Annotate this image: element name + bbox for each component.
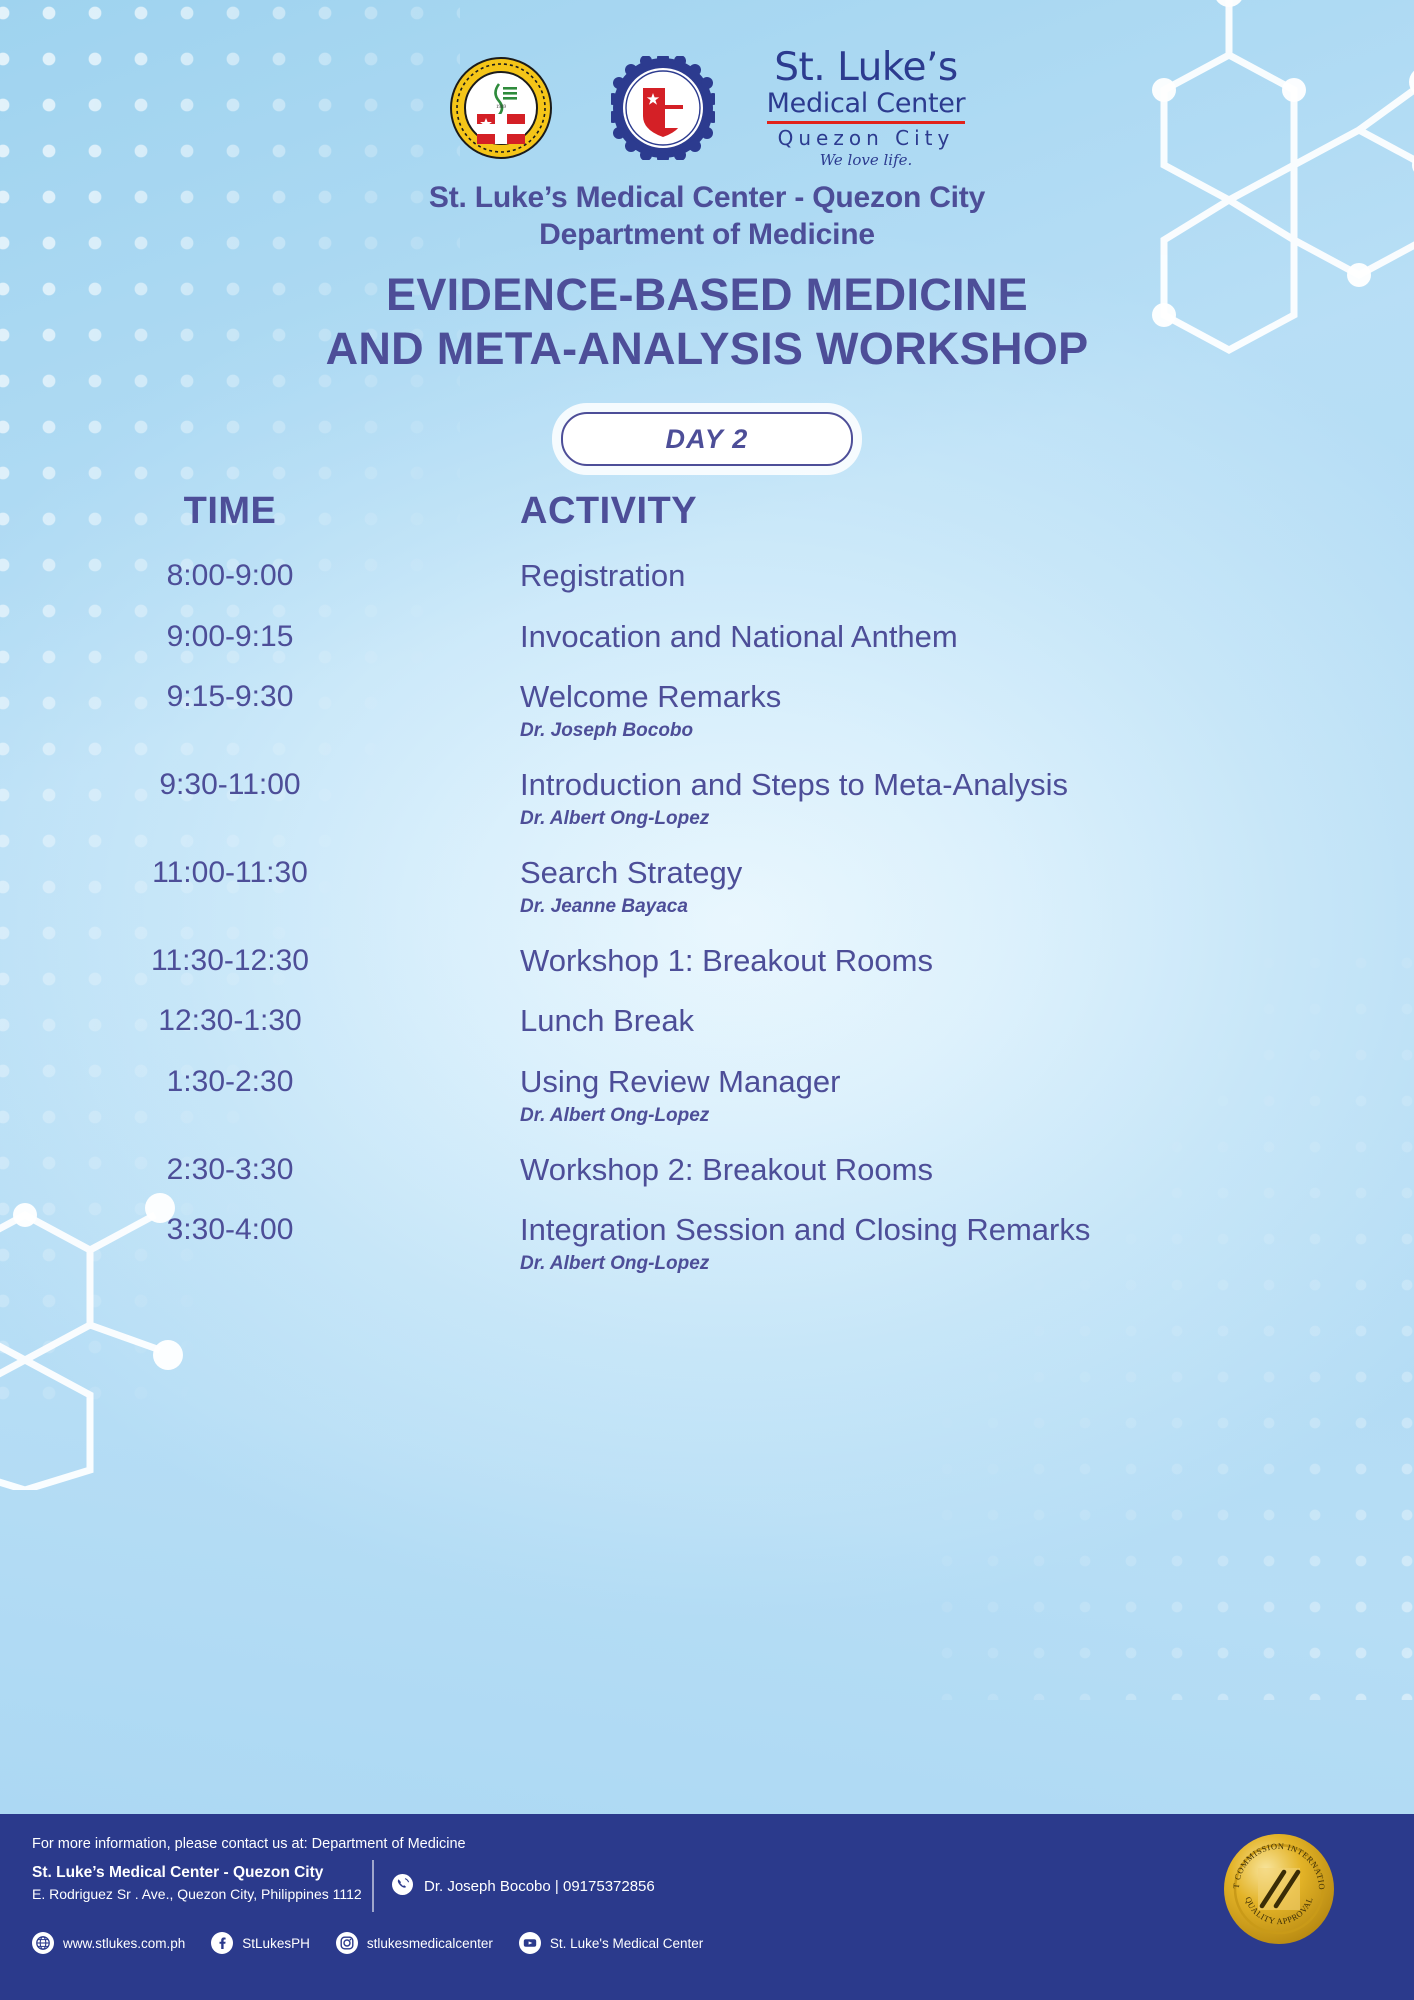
schedule-activity-cell: Search StrategyDr. Jeanne Bayaca xyxy=(460,856,1414,918)
schedule-activity-title: Workshop 1: Breakout Rooms xyxy=(520,944,1374,979)
schedule-activity-cell: Workshop 2: Breakout Rooms xyxy=(460,1153,1414,1188)
table-row: 2:30-3:30Workshop 2: Breakout Rooms xyxy=(0,1153,1414,1188)
schedule-activity-title: Registration xyxy=(520,559,1374,594)
schedule-activity-cell: Workshop 1: Breakout Rooms xyxy=(460,944,1414,979)
schedule-activity-cell: Integration Session and Closing RemarksD… xyxy=(460,1213,1414,1275)
schedule-activity-cell: Introduction and Steps to Meta-AnalysisD… xyxy=(460,768,1414,830)
svg-text:1969: 1969 xyxy=(496,105,507,110)
schedule-time-cell: 9:00-9:15 xyxy=(0,620,460,654)
organization-heading: St. Luke’s Medical Center - Quezon City … xyxy=(0,180,1414,253)
social-link-label: StLukesPH xyxy=(242,1936,310,1951)
table-row: 9:15-9:30Welcome RemarksDr. Joseph Bocob… xyxy=(0,680,1414,742)
instagram-icon xyxy=(336,1932,358,1954)
table-row: 8:00-9:00Registration xyxy=(0,559,1414,594)
footer-bar: For more information, please contact us … xyxy=(0,1814,1414,2000)
schedule-time-cell: 11:00-11:30 xyxy=(0,856,460,890)
footer-divider xyxy=(372,1860,374,1912)
schedule-header-row: TIME ACTIVITY xyxy=(0,490,1414,533)
wordmark-line-3: Quezon City xyxy=(778,128,955,148)
schedule-activity-cell: Using Review ManagerDr. Albert Ong-Lopez xyxy=(460,1065,1414,1127)
wordmark-tagline: We love life. xyxy=(820,153,913,168)
schedule-time-cell: 1:30-2:30 xyxy=(0,1065,460,1099)
schedule-header-time-label: TIME xyxy=(184,490,277,532)
page-title: EVIDENCE-BASED MEDICINE AND META-ANALYSI… xyxy=(0,268,1414,376)
schedule-activity-speaker: Dr. Albert Ong-Lopez xyxy=(520,1253,1374,1275)
schedule-table: TIME ACTIVITY 8:00-9:00Registration9:00-… xyxy=(0,490,1414,1275)
day-badge-label: DAY 2 xyxy=(665,424,748,455)
schedule-header-activity-label: ACTIVITY xyxy=(520,490,1414,533)
schedule-activity-title: Invocation and National Anthem xyxy=(520,620,1374,655)
schedule-time-cell: 9:30-11:00 xyxy=(0,768,460,802)
schedule-activity-speaker: Dr. Joseph Bocobo xyxy=(520,720,1374,742)
social-link[interactable]: StLukesPH xyxy=(211,1932,310,1954)
schedule-time-cell: 11:30-12:30 xyxy=(0,944,460,978)
day-badge: DAY 2 xyxy=(561,412,853,466)
schedule-header-activity-cell: ACTIVITY xyxy=(460,490,1414,533)
globe-icon xyxy=(32,1932,54,1954)
schedule-time-cell: 9:15-9:30 xyxy=(0,680,460,714)
schedule-time-cell: 3:30-4:00 xyxy=(0,1213,460,1247)
social-link-label: www.stlukes.com.ph xyxy=(63,1936,185,1951)
schedule-activity-title: Lunch Break xyxy=(520,1004,1374,1039)
schedule-activity-title: Workshop 2: Breakout Rooms xyxy=(520,1153,1374,1188)
schedule-activity-title: Integration Session and Closing Remarks xyxy=(520,1213,1374,1248)
table-row: 11:30-12:30Workshop 1: Breakout Rooms xyxy=(0,944,1414,979)
schedule-activity-cell: Welcome RemarksDr. Joseph Bocobo xyxy=(460,680,1414,742)
table-row: 1:30-2:30Using Review ManagerDr. Albert … xyxy=(0,1065,1414,1127)
schedule-activity-speaker: Dr. Jeanne Bayaca xyxy=(520,896,1374,918)
social-link[interactable]: St. Luke's Medical Center xyxy=(519,1932,703,1954)
footer-contact-text: Dr. Joseph Bocobo | 09175372856 xyxy=(424,1878,655,1895)
schedule-header-time-cell: TIME xyxy=(0,490,460,533)
table-row: 11:00-11:30Search StrategyDr. Jeanne Bay… xyxy=(0,856,1414,918)
logo-row: 1969 xyxy=(0,48,1414,168)
schedule-rows: 8:00-9:00Registration9:00-9:15Invocation… xyxy=(0,559,1414,1275)
schedule-time-cell: 12:30-1:30 xyxy=(0,1004,460,1038)
table-row: 9:00-9:15Invocation and National Anthem xyxy=(0,620,1414,655)
poster-canvas: 1969 xyxy=(0,0,1414,2000)
jci-accreditation-badge-icon: JOINT COMMISSION INTERNATIONAL QUALITY A… xyxy=(1222,1832,1336,1946)
footer-info-line: For more information, please contact us … xyxy=(32,1836,466,1852)
table-row: 3:30-4:00Integration Session and Closing… xyxy=(0,1213,1414,1275)
title-line-2: AND META-ANALYSIS WORKSHOP xyxy=(0,322,1414,376)
schedule-activity-cell: Registration xyxy=(460,559,1414,594)
org-line-1: St. Luke’s Medical Center - Quezon City xyxy=(0,180,1414,217)
wordmark-line-1: St. Luke’s xyxy=(774,48,958,87)
wordmark-line-2: Medical Center xyxy=(767,90,966,117)
social-link[interactable]: www.stlukes.com.ph xyxy=(32,1932,185,1954)
schedule-time-cell: 8:00-9:00 xyxy=(0,559,460,593)
schedule-activity-title: Search Strategy xyxy=(520,856,1374,891)
facebook-icon xyxy=(211,1932,233,1954)
social-link-label: St. Luke's Medical Center xyxy=(550,1936,703,1951)
footer-social-links: www.stlukes.com.phStLukesPHstlukesmedica… xyxy=(32,1932,729,1954)
social-link[interactable]: stlukesmedicalcenter xyxy=(336,1932,493,1954)
schedule-activity-cell: Invocation and National Anthem xyxy=(460,620,1414,655)
schedule-activity-title: Introduction and Steps to Meta-Analysis xyxy=(520,768,1374,803)
schedule-activity-speaker: Dr. Albert Ong-Lopez xyxy=(520,1105,1374,1127)
schedule-activity-title: Welcome Remarks xyxy=(520,680,1374,715)
table-row: 12:30-1:30Lunch Break xyxy=(0,1004,1414,1039)
footer-phone-contact: Dr. Joseph Bocobo | 09175372856 xyxy=(392,1874,655,1899)
youtube-icon xyxy=(519,1932,541,1954)
department-of-medicine-seal-icon: 1969 xyxy=(449,56,553,160)
social-link-label: stlukesmedicalcenter xyxy=(367,1936,493,1951)
st-lukes-medical-center-seal-icon xyxy=(611,56,715,160)
st-lukes-wordmark: St. Luke’s Medical Center Quezon City We… xyxy=(767,48,966,168)
schedule-activity-speaker: Dr. Albert Ong-Lopez xyxy=(520,808,1374,830)
schedule-activity-cell: Lunch Break xyxy=(460,1004,1414,1039)
table-row: 9:30-11:00Introduction and Steps to Meta… xyxy=(0,768,1414,830)
schedule-time-cell: 2:30-3:30 xyxy=(0,1153,460,1187)
wordmark-red-rule xyxy=(767,121,966,124)
title-line-1: EVIDENCE-BASED MEDICINE xyxy=(0,268,1414,322)
org-line-2: Department of Medicine xyxy=(0,217,1414,254)
schedule-activity-title: Using Review Manager xyxy=(520,1065,1374,1100)
phone-icon xyxy=(392,1874,413,1899)
